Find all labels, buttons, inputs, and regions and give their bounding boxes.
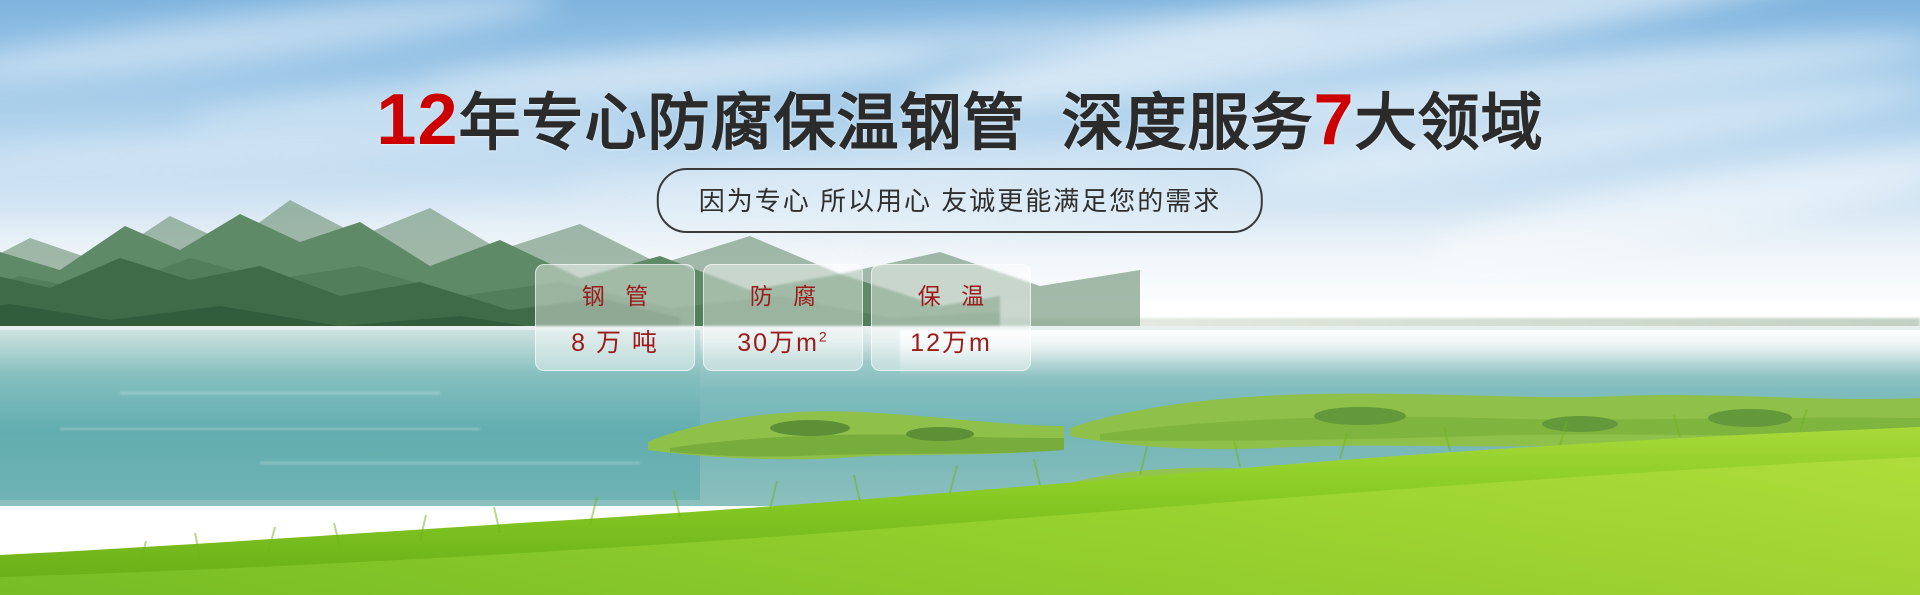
stat-card-label: 钢 管: [575, 277, 655, 311]
stat-card-value: 8 万 吨: [571, 323, 659, 359]
subtitle-text: 因为专心 所以用心 友诚更能满足您的需求: [699, 186, 1221, 216]
headline-text-tertiary: 大领域: [1355, 89, 1544, 158]
lake-glare: [900, 330, 1920, 376]
stat-card-label: 防 腐: [743, 277, 823, 311]
stat-card-value-superscript: 2: [819, 328, 829, 344]
subtitle-pill: 因为专心 所以用心 友诚更能满足您的需求: [657, 168, 1263, 233]
headline-fields-number: 7: [1314, 80, 1355, 160]
stat-card-value-text: 12万m: [910, 329, 992, 357]
hero-banner: 12年专心防腐保温钢管深度服务7大领域 因为专心 所以用心 友诚更能满足您的需求…: [0, 0, 1920, 595]
water-ripple: [120, 392, 440, 394]
headline-text-primary: 年专心防腐保温钢管: [459, 89, 1026, 158]
stat-card-insulation[interactable]: 保 温 12万m: [871, 264, 1031, 371]
headline-text-secondary: 深度服务: [1062, 89, 1314, 158]
stat-card-steel-pipe[interactable]: 钢 管 8 万 吨: [535, 264, 695, 371]
stat-card-label: 保 温: [911, 277, 991, 311]
stat-card-value: 30万m2: [737, 323, 828, 359]
stat-card-value-text: 30万m: [737, 329, 819, 357]
stat-card-value-text: 8 万 吨: [571, 329, 659, 357]
foreground-grass: [0, 405, 1920, 595]
stat-card-anticorrosion[interactable]: 防 腐 30万m2: [703, 264, 863, 371]
stats-card-group: 钢 管 8 万 吨 防 腐 30万m2 保 温 12万m: [535, 264, 1031, 371]
stat-card-value: 12万m: [910, 323, 992, 359]
headline: 12年专心防腐保温钢管深度服务7大领域: [0, 84, 1920, 156]
headline-years-number: 12: [376, 80, 458, 160]
